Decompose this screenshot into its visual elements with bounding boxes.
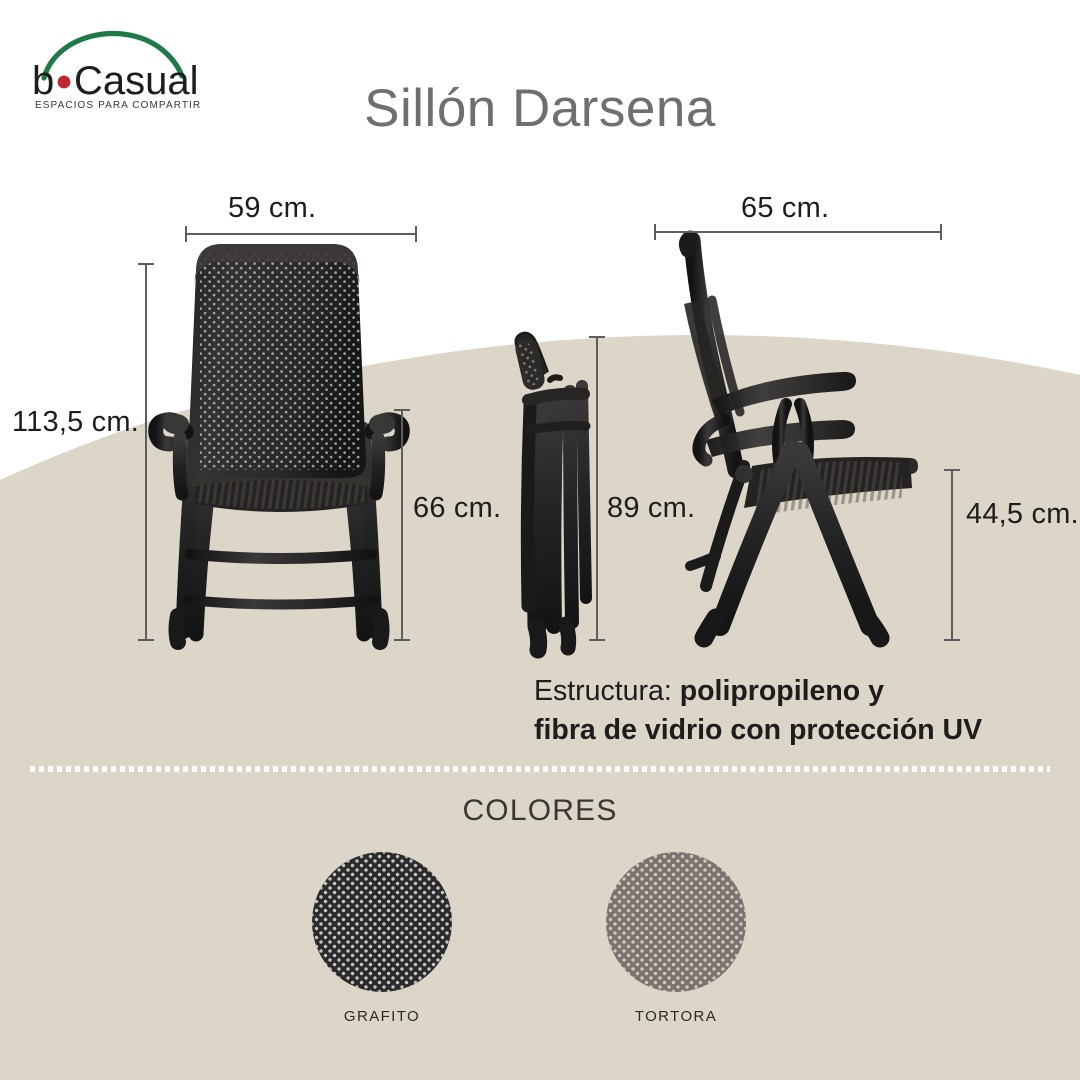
swatch-label-tortora: TORTORA xyxy=(591,1008,761,1025)
color-swatch-grafito[interactable]: GRAFITO xyxy=(297,852,467,1025)
page-title: Sillón Darsena xyxy=(0,78,1080,139)
dim-label-seat-height: 44,5 cm. xyxy=(966,498,1079,531)
colores-heading: COLORES xyxy=(0,794,1080,828)
swatch-circle-grafito[interactable] xyxy=(312,852,452,992)
dim-label-total-height: 113,5 cm. xyxy=(12,406,139,439)
dim-label-folded-height: 89 cm. xyxy=(607,492,695,525)
product-spec-sheet: b Casual ESPACIOS PARA COMPARTIR Sillón … xyxy=(0,0,1080,1080)
structure-value-line2: fibra de vidrio con protección UV xyxy=(534,714,982,746)
swatch-label-grafito: GRAFITO xyxy=(297,1008,467,1025)
swatch-texture-grafito xyxy=(312,852,452,992)
dimension-lines xyxy=(0,0,1080,1080)
dim-label-side-width: 65 cm. xyxy=(741,192,829,225)
swatch-circle-tortora[interactable] xyxy=(606,852,746,992)
dim-label-front-width: 59 cm. xyxy=(228,192,316,225)
color-swatch-tortora[interactable]: TORTORA xyxy=(591,852,761,1025)
section-divider xyxy=(30,766,1050,772)
structure-label: Estructura: xyxy=(534,675,672,707)
swatch-texture-tortora xyxy=(606,852,746,992)
structure-description: Estructura: polipropileno y fibra de vid… xyxy=(534,672,1062,750)
dim-label-back-height: 66 cm. xyxy=(413,492,501,525)
structure-value-line1: polipropileno y xyxy=(680,675,884,707)
